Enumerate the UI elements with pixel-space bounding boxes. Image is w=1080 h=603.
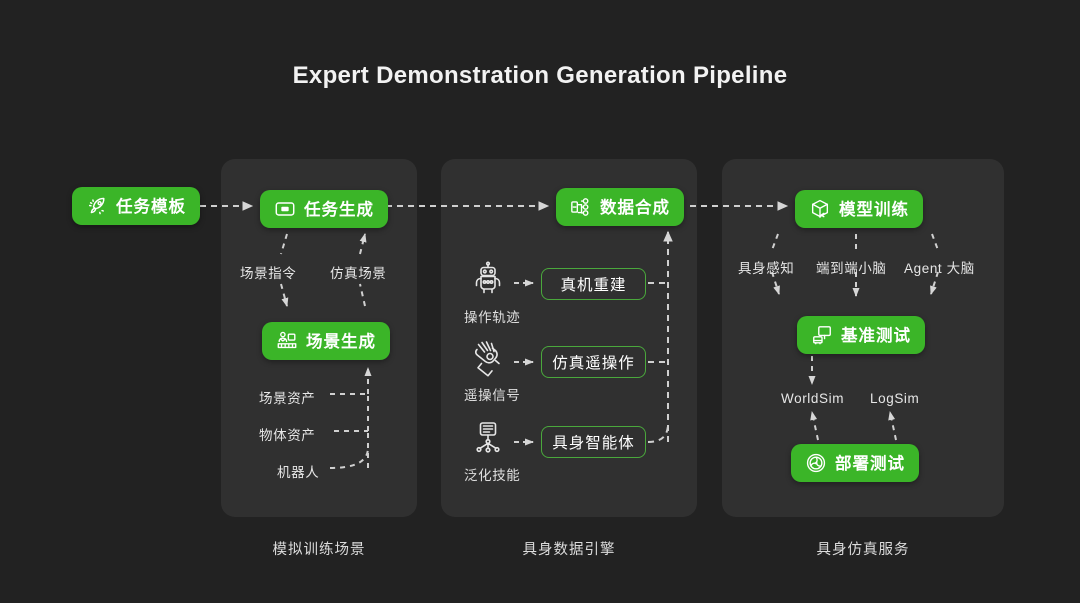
node-model-training[interactable]: 模型训练 bbox=[795, 190, 923, 228]
label-robot: 机器人 bbox=[277, 461, 319, 481]
node-data-synthesis[interactable]: 数据合成 bbox=[556, 188, 684, 226]
label-embodied-perception: 具身感知 bbox=[738, 257, 794, 277]
node-sim-teleoperation[interactable]: 仿真遥操作 bbox=[541, 346, 646, 378]
label-generalized-skill: 泛化技能 bbox=[464, 464, 520, 484]
node-task-template[interactable]: 任务模板 bbox=[72, 187, 200, 225]
caption-simulation-training: 模拟训练场景 bbox=[221, 538, 417, 559]
node-label: 数据合成 bbox=[600, 200, 670, 217]
glove-hand-icon bbox=[468, 338, 508, 378]
node-label: 场景生成 bbox=[306, 334, 376, 351]
robot-icon bbox=[468, 260, 508, 300]
label-scene-asset: 场景资产 bbox=[259, 387, 315, 407]
node-embodied-agent[interactable]: 具身智能体 bbox=[541, 426, 646, 458]
node-label: 基准测试 bbox=[841, 328, 911, 345]
node-real-machine-rebuild[interactable]: 真机重建 bbox=[541, 268, 646, 300]
swirl-circle-icon bbox=[805, 452, 827, 474]
diagram-canvas: Expert Demonstration Generation Pipeline bbox=[0, 0, 1080, 603]
node-label: 模型训练 bbox=[839, 202, 909, 219]
scene-person-icon bbox=[276, 330, 298, 352]
skill-network-icon bbox=[468, 418, 508, 458]
data-sync-icon bbox=[570, 196, 592, 218]
node-label: 任务生成 bbox=[304, 202, 374, 219]
label-object-asset: 物体资产 bbox=[259, 424, 315, 444]
caption-embodied-data-engine: 具身数据引擎 bbox=[441, 538, 697, 559]
cube-arrow-icon bbox=[809, 198, 831, 220]
template-frame-icon bbox=[274, 198, 296, 220]
label-end-to-end-cerebellum: 端到端小脑 bbox=[816, 257, 887, 277]
node-benchmark-test[interactable]: 基准测试 bbox=[797, 316, 925, 354]
label-operation-trajectory: 操作轨迹 bbox=[464, 306, 520, 326]
node-deployment-test[interactable]: 部署测试 bbox=[791, 444, 919, 482]
monitor-icon bbox=[811, 324, 833, 346]
label-sim-scene: 仿真场景 bbox=[330, 262, 386, 282]
page-title: Expert Demonstration Generation Pipeline bbox=[0, 62, 1080, 90]
rocket-icon bbox=[86, 195, 108, 217]
label-worldsim: WorldSim bbox=[781, 391, 844, 406]
node-scene-generation[interactable]: 场景生成 bbox=[262, 322, 390, 360]
caption-embodied-sim-service: 具身仿真服务 bbox=[722, 538, 1004, 559]
node-label: 任务模板 bbox=[116, 199, 186, 216]
node-task-generation[interactable]: 任务生成 bbox=[260, 190, 388, 228]
node-label: 部署测试 bbox=[835, 456, 905, 473]
label-teleop-signal: 遥操信号 bbox=[464, 384, 520, 404]
label-scene-command: 场景指令 bbox=[240, 262, 296, 282]
label-agent-brain: Agent 大脑 bbox=[904, 257, 975, 277]
label-logsim: LogSim bbox=[870, 391, 919, 406]
